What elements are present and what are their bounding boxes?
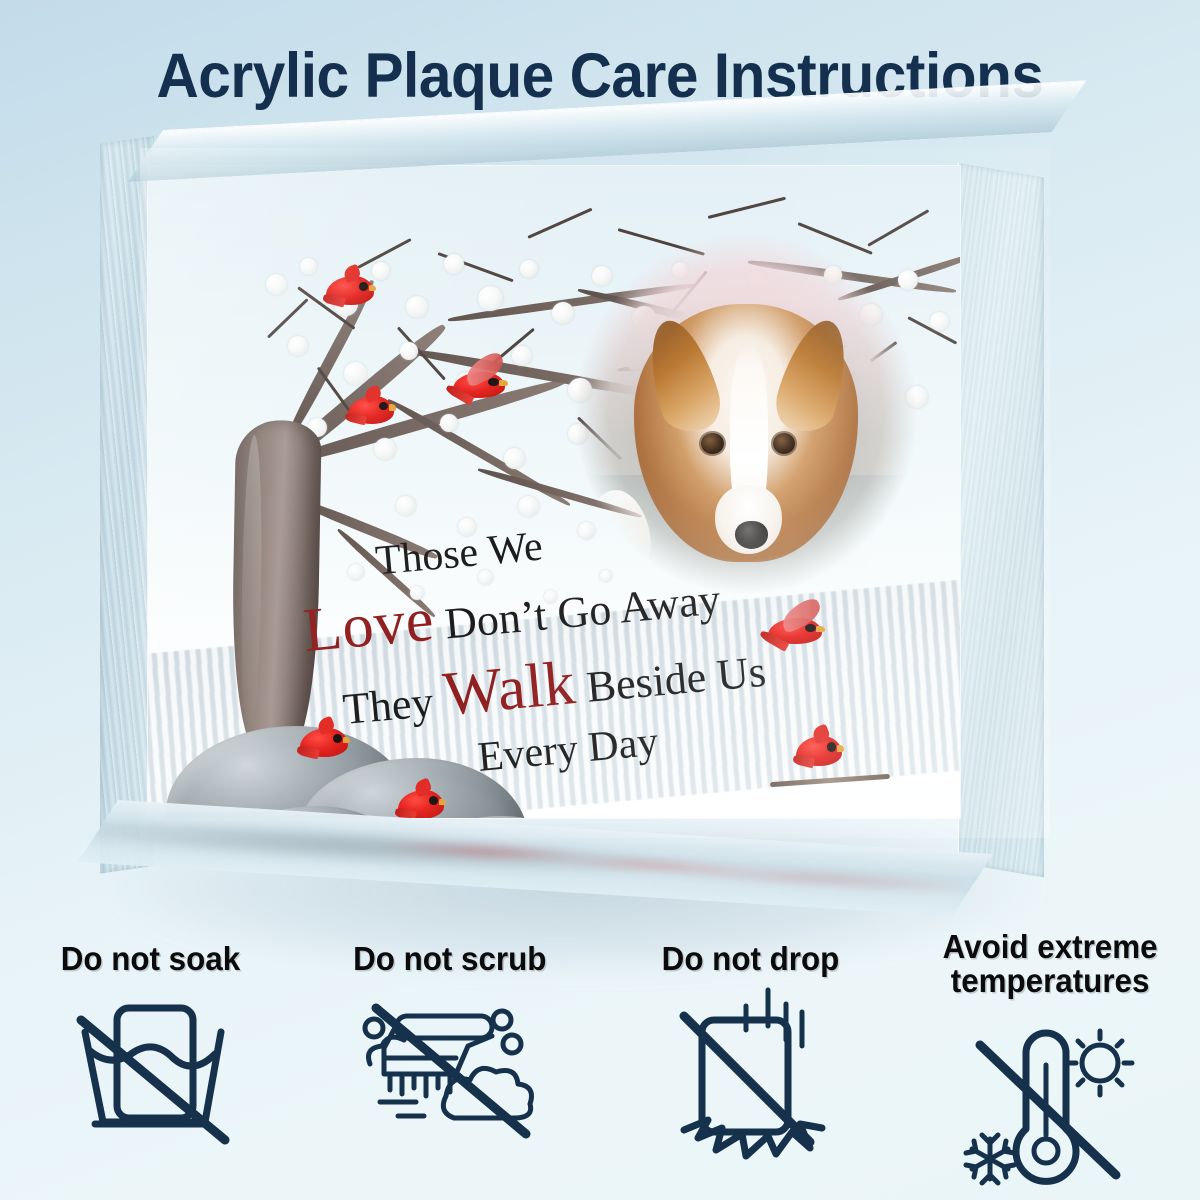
care-label-do-not-drop: Do not drop	[661, 942, 839, 976]
plaque-left-edge	[100, 136, 154, 874]
cardinal-bird	[348, 396, 394, 438]
care-label-line-1: Avoid extreme	[943, 928, 1158, 965]
quote-line-3-rest: Beside Us	[585, 647, 768, 712]
plaque-artwork-face: Those We Love Don’t Go Away They Walk Be…	[148, 166, 960, 818]
care-item-do-not-scrub: Do not scrub	[300, 930, 600, 1200]
no-scrub-icon	[350, 992, 550, 1157]
care-label-line-2: temperatures	[951, 962, 1150, 999]
cardinal-bird-flying	[453, 372, 505, 412]
quote-accent-walk: Walk	[440, 648, 578, 730]
no-drop-icon	[650, 978, 850, 1173]
care-item-do-not-drop: Do not drop	[600, 930, 900, 1200]
quote-line-2-rest: Don’t Go Away	[443, 575, 723, 649]
care-instructions-row: Do not soak Do not scrub	[0, 930, 1200, 1200]
no-extreme-temperature-icon	[950, 1009, 1150, 1194]
care-label-do-not-scrub: Do not scrub	[353, 942, 546, 976]
quote-line-3-pre: They	[341, 678, 435, 735]
care-item-do-not-soak: Do not soak	[0, 930, 300, 1200]
cardinal-bird	[326, 276, 374, 320]
cardinal-bird	[398, 790, 444, 818]
acrylic-plaque: Those We Love Don’t Go Away They Walk Be…	[100, 128, 1080, 928]
care-label-avoid-extreme-temperatures: Avoid extreme temperatures	[943, 930, 1158, 999]
care-item-avoid-extreme-temperatures: Avoid extreme temperatures	[900, 930, 1200, 1200]
care-label-do-not-soak: Do not soak	[60, 942, 239, 976]
plaque-right-edge	[958, 163, 1044, 877]
no-soak-icon	[55, 992, 245, 1157]
quote-accent-love: Love	[300, 584, 436, 666]
